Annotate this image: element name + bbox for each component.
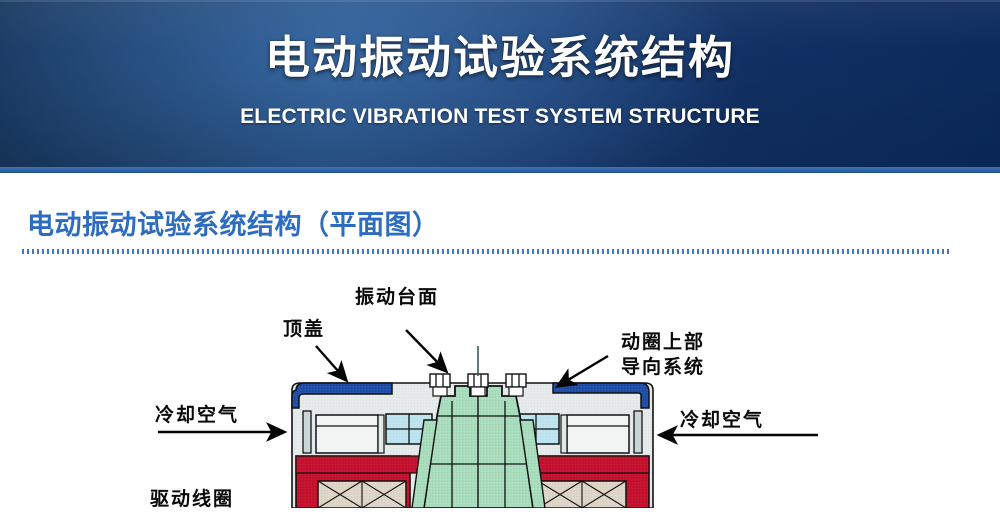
guide-rail-left [303, 411, 311, 453]
shaker-cross-section-svg [0, 268, 1000, 508]
section-dotted-divider [22, 249, 950, 254]
section-heading: 电动振动试验系统结构（平面图） [27, 203, 440, 242]
leader-top-cover [316, 346, 346, 380]
label-cooling-air-right: 冷却空气 [680, 408, 764, 433]
leader-vibration-table [406, 330, 446, 371]
header-content: 电动振动试验系统结构 ELECTRIC VIBRATION TEST SYSTE… [0, 0, 1000, 167]
label-guide-system-line1: 动圈上部 [621, 330, 705, 355]
guide-spacer-left [378, 415, 384, 453]
label-drive-coil: 驱动线圈 [150, 487, 234, 512]
label-cooling-air-left: 冷却空气 [155, 403, 239, 428]
drive-coil-left [318, 481, 406, 508]
mounting-bolt-center [468, 374, 488, 396]
leader-guide-system [558, 356, 608, 386]
guide-spacer-right [561, 415, 567, 453]
guide-block-left [316, 415, 378, 453]
page-header-banner: 电动振动试验系统结构 ELECTRIC VIBRATION TEST SYSTE… [0, 0, 1000, 167]
label-top-cover: 顶盖 [283, 317, 325, 342]
guide-block-right [567, 415, 629, 453]
guide-rail-right [634, 411, 642, 453]
label-guide-system-line2: 导向系统 [621, 355, 705, 380]
page-subtitle-english: ELECTRIC VIBRATION TEST SYSTEM STRUCTURE [0, 105, 1000, 129]
mounting-bolt-left [430, 374, 450, 396]
drive-coil-right [538, 481, 626, 508]
label-vibration-table: 振动台面 [355, 285, 439, 310]
shaker-diagram [0, 268, 1000, 508]
label-guide-system: 动圈上部 导向系统 [621, 330, 705, 380]
page-title: 电动振动试验系统结构 [0, 31, 1000, 84]
mounting-bolt-right [506, 374, 526, 396]
